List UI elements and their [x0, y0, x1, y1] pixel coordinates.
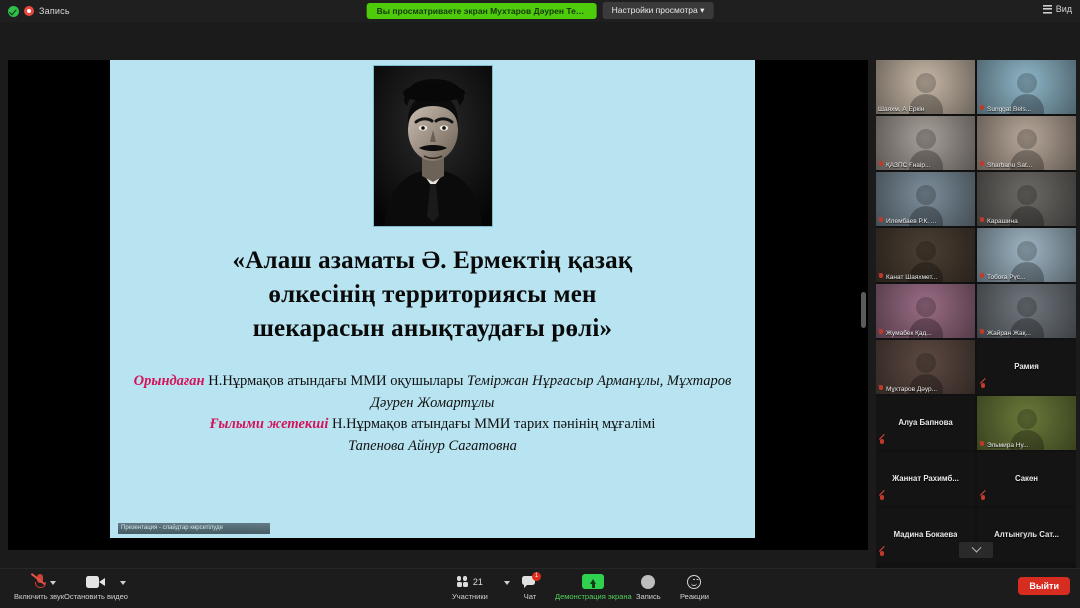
slide-title-line-2: өлкесінің территориясы мен	[153, 278, 713, 312]
participant-tile[interactable]: Жаннат Рахимб...	[876, 452, 975, 506]
credit-supervisor-text: Н.Нұрмақов атындағы ММИ тарих пәнінің мұ…	[328, 416, 655, 432]
participant-strip[interactable]: Шаяхм. А ЕркінSunggat Bels...ҚАЗПС Ғнаір…	[876, 60, 1076, 568]
mic-muted-icon	[979, 161, 985, 169]
participant-tile[interactable]: Алуа Бапнова	[876, 396, 975, 450]
mic-muted-icon	[979, 105, 985, 113]
participant-name: Sunggat Bels...	[979, 105, 1074, 113]
mic-muted-icon	[980, 495, 986, 503]
presentation-slide: «Алаш азаматы Ә. Ермектің қазақ өлкесіні…	[110, 60, 755, 538]
credit-supervisor: Ғылыми жетекші Н.Нұрмақов атындағы ММИ т…	[133, 414, 733, 435]
participant-name-label: Мұхтаров Дәур...	[886, 386, 937, 393]
top-bar: Запись Вы просматриваете экран Мухтаров …	[0, 0, 1080, 22]
participants-caret-icon[interactable]	[504, 581, 510, 585]
participant-name-label: Жайран Жақ...	[987, 330, 1031, 337]
video-options-caret-icon[interactable]	[120, 581, 126, 585]
credit-supervisor-name: Тапенова Айнур Сагатовна	[133, 436, 733, 457]
participant-tile[interactable]: Мұхтаров Дәур...	[876, 340, 975, 394]
mic-muted-icon	[979, 217, 985, 225]
slide-title-line-3: шекарасын анықтаудағы рөлі»	[153, 312, 713, 346]
mic-muted-icon	[979, 329, 985, 337]
participant-name: Илембаев Р.К. ...	[878, 217, 973, 225]
participant-name-label: Эльмира Ну...	[987, 442, 1028, 449]
participant-tile[interactable]: Sunggat Bels...	[977, 60, 1076, 114]
chat-label: Чат	[524, 592, 536, 601]
share-screen-icon	[582, 574, 604, 589]
leave-meeting-button[interactable]: Выйти	[1018, 577, 1070, 595]
stop-video-button[interactable]: Остановить видео	[64, 573, 128, 601]
participant-tile[interactable]: Шаяхм. А Еркін	[876, 60, 975, 114]
participants-count: 21	[473, 577, 483, 587]
participant-name: ҚАЗПС Ғнаір...	[878, 161, 973, 169]
mic-muted-icon	[979, 441, 985, 449]
participants-button[interactable]: 21 Участники	[452, 573, 488, 601]
participant-name: Тобоға Рүс...	[979, 273, 1074, 281]
chat-bubble-icon: 1	[522, 575, 538, 588]
participant-name-label: Шаяхм. А Еркін	[878, 106, 924, 113]
participant-name: Sharbanu Sat...	[979, 161, 1074, 169]
participant-tile[interactable]: Сакен	[977, 452, 1076, 506]
participant-scroll-down-button[interactable]	[959, 542, 993, 558]
view-mode-label: Вид	[1056, 4, 1072, 14]
participant-tile[interactable]: Илембаев Р.К. ...	[876, 172, 975, 226]
stop-video-label: Остановить видео	[64, 592, 128, 601]
record-dot-icon[interactable]	[24, 6, 34, 16]
participant-tile[interactable]: Карашина	[977, 172, 1076, 226]
participant-name: Алуа Бапнова	[898, 396, 952, 450]
share-banner-text: Вы просматриваете экран Мухтаров Дәурен …	[367, 3, 597, 19]
participant-name-label: Канат Шаяхмет...	[886, 274, 937, 281]
participant-tile[interactable]: Жумабек Қад...	[876, 284, 975, 338]
chevron-down-icon	[971, 542, 981, 552]
mic-muted-icon	[33, 573, 46, 590]
participant-tile[interactable]: Тобоға Рүс...	[977, 228, 1076, 282]
reactions-label: Реакции	[680, 592, 709, 601]
credit-performed-by: Орындаған Н.Нұрмақов атындағы ММИ оқушыл…	[133, 371, 733, 414]
unmute-label: Включить звук	[14, 592, 64, 601]
slide-mini-taskbar-text: Презентация - слайдтар көрсетілуде	[118, 523, 270, 534]
slide-title-line-1: «Алаш азаматы Ә. Ермектің қазақ	[153, 244, 713, 278]
recording-label: Запись	[39, 6, 70, 16]
participant-name-label: Карашина	[987, 218, 1018, 225]
zoom-meeting-window: Запись Вы просматриваете экран Мухтаров …	[0, 0, 1080, 608]
record-button[interactable]: Запись	[636, 573, 661, 601]
share-screen-button[interactable]: Демонстрация экрана	[555, 573, 632, 601]
slide-credits: Орындаған Н.Нұрмақов атындағы ММИ оқушыл…	[133, 371, 733, 457]
unmute-button[interactable]: Включить звук	[14, 573, 64, 601]
participant-tile[interactable]: Рамия	[977, 340, 1076, 394]
mic-muted-icon	[878, 217, 884, 225]
mic-muted-icon	[879, 495, 885, 503]
chat-unread-badge: 1	[532, 572, 541, 581]
participant-name: Карашина	[979, 217, 1074, 225]
participant-name-label: ҚАЗПС Ғнаір...	[886, 162, 930, 169]
record-circle-icon	[641, 575, 655, 589]
recording-indicator: Запись	[8, 6, 70, 17]
record-label: Запись	[636, 592, 661, 601]
mic-muted-icon	[878, 161, 884, 169]
participant-name: Жаннат Рахимб...	[892, 452, 959, 506]
mic-muted-icon	[878, 329, 884, 337]
participants-label: Участники	[452, 592, 488, 601]
participant-name-label: Sharbanu Sat...	[987, 162, 1032, 169]
participant-tile[interactable]: ҚАЗПС Ғнаір...	[876, 116, 975, 170]
participant-name-label: Тобоға Рүс...	[987, 274, 1025, 281]
participant-name: Жайран Жақ...	[979, 329, 1074, 337]
credit-performed-label: Орындаған	[134, 373, 205, 389]
chat-button[interactable]: 1 Чат	[522, 573, 538, 601]
portrait-photo	[374, 66, 492, 226]
mic-muted-icon	[878, 273, 884, 281]
participant-name: Сакен	[1015, 452, 1038, 506]
participant-name: Алтынгуль Сат...	[994, 508, 1059, 562]
view-options-button[interactable]: Настройки просмотра ▾	[603, 2, 714, 19]
share-screen-label: Демонстрация экрана	[555, 592, 632, 601]
participant-name: Эльмира Ну...	[979, 441, 1074, 449]
participant-name: Мадина Бокаева	[894, 508, 958, 562]
participant-name: Канат Шаяхмет...	[878, 273, 973, 281]
participant-name: Жумабек Қад...	[878, 329, 973, 337]
participant-grid: Шаяхм. А ЕркінSunggat Bels...ҚАЗПС Ғнаір…	[876, 60, 1076, 562]
audio-options-caret-icon[interactable]	[50, 581, 56, 585]
grid-view-icon	[1043, 5, 1052, 14]
slide-title: «Алаш азаматы Ә. Ермектің қазақ өлкесіні…	[153, 244, 713, 345]
participant-name-label: Жумабек Қад...	[886, 330, 932, 337]
participant-name: Рамия	[1014, 340, 1039, 394]
screen-share-notice: Вы просматриваете экран Мухтаров Дәурен …	[367, 2, 714, 19]
camera-icon	[86, 573, 105, 590]
participant-name-label: Sunggat Bels...	[987, 106, 1031, 113]
mic-muted-icon	[979, 273, 985, 281]
meeting-toolbar: Включить звук Остановить видео 21 Участн…	[0, 568, 1080, 608]
shared-screen-scrollbar[interactable]	[861, 292, 866, 328]
slide-mini-taskbar: Презентация - слайдтар көрсетілуде	[118, 523, 270, 534]
view-mode-button[interactable]: Вид	[1043, 4, 1072, 14]
participant-name-label: Илембаев Р.К. ...	[886, 218, 936, 225]
shared-screen-area[interactable]: «Алаш азаматы Ә. Ермектің қазақ өлкесіні…	[8, 60, 868, 550]
mic-muted-icon	[879, 551, 885, 559]
participant-tile[interactable]: Sharbanu Sat...	[977, 116, 1076, 170]
smiley-icon	[687, 575, 701, 589]
credit-supervisor-label: Ғылыми жетекші	[210, 416, 329, 432]
credit-performed-text: Н.Нұрмақов атындағы ММИ оқушылары	[205, 373, 467, 389]
participant-tile[interactable]: Канат Шаяхмет...	[876, 228, 975, 282]
participant-tile[interactable]: Эльмира Ну...	[977, 396, 1076, 450]
reactions-button[interactable]: Реакции	[680, 573, 709, 601]
mic-muted-icon	[879, 439, 885, 447]
participant-name: Мұхтаров Дәур...	[878, 385, 973, 393]
mic-muted-icon	[980, 383, 986, 391]
participant-name: Шаяхм. А Еркін	[878, 106, 973, 113]
participant-tile[interactable]: Жайран Жақ...	[977, 284, 1076, 338]
mic-muted-icon	[878, 385, 884, 393]
check-circle-icon	[8, 6, 19, 17]
people-icon	[457, 576, 471, 587]
